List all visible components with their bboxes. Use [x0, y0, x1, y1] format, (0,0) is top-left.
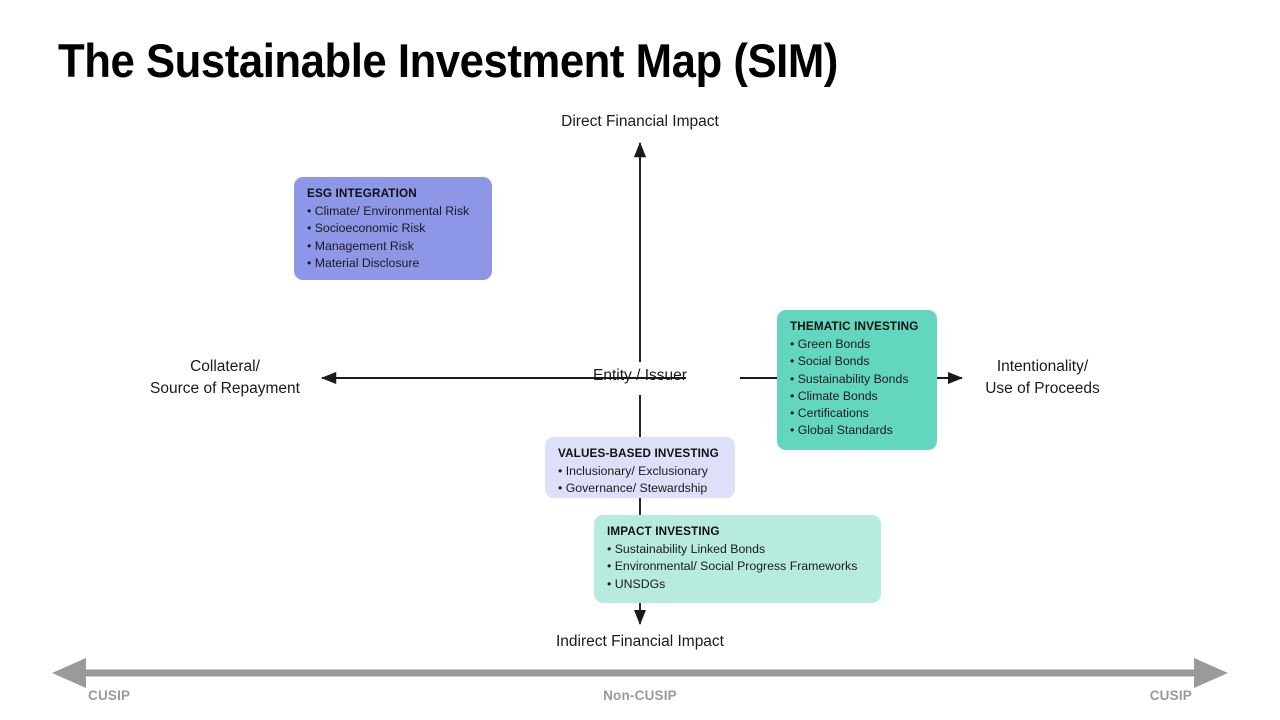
axis-label-collateral-source-of-repayment: Collateral/ Source of Repayment [110, 356, 340, 400]
box-values-based-investing[interactable]: VALUES-BASED INVESTING Inclusionary/ Exc… [545, 437, 735, 498]
list-item: Management Risk [307, 238, 480, 255]
box-thematic-investing-title: THEMATIC INVESTING [790, 320, 925, 333]
list-item: Certifications [790, 405, 925, 422]
box-values-based-investing-list: Inclusionary/ Exclusionary Governance/ S… [558, 463, 723, 498]
list-item: Socioeconomic Risk [307, 220, 480, 237]
cusip-label-middle: Non-CUSIP [540, 688, 740, 703]
axis-label-indirect-financial-impact: Indirect Financial Impact [490, 631, 790, 653]
axis-label-direct-financial-impact: Direct Financial Impact [490, 111, 790, 133]
list-item: Sustainability Linked Bonds [607, 541, 869, 558]
box-esg-integration-list: Climate/ Environmental Risk Socioeconomi… [307, 203, 480, 272]
list-item: Sustainability Bonds [790, 371, 925, 388]
box-thematic-investing-list: Green Bonds Social Bonds Sustainability … [790, 336, 925, 440]
center-node-entity-issuer: Entity / Issuer [560, 367, 720, 385]
cusip-label-right: CUSIP [1150, 688, 1192, 703]
list-item: Social Bonds [790, 353, 925, 370]
cusip-label-left: CUSIP [88, 688, 130, 703]
list-item: UNSDGs [607, 576, 869, 593]
box-thematic-investing[interactable]: THEMATIC INVESTING Green Bonds Social Bo… [777, 310, 937, 450]
box-values-based-investing-title: VALUES-BASED INVESTING [558, 447, 723, 460]
list-item: Global Standards [790, 422, 925, 439]
box-impact-investing[interactable]: IMPACT INVESTING Sustainability Linked B… [594, 515, 881, 603]
list-item: Governance/ Stewardship [558, 480, 723, 497]
list-item: Green Bonds [790, 336, 925, 353]
box-impact-investing-list: Sustainability Linked Bonds Environmenta… [607, 541, 869, 593]
list-item: Material Disclosure [307, 255, 480, 272]
box-impact-investing-title: IMPACT INVESTING [607, 525, 869, 538]
diagram-canvas: The Sustainable Investment Map (SIM) Dir… [0, 0, 1280, 720]
list-item: Inclusionary/ Exclusionary [558, 463, 723, 480]
list-item: Climate/ Environmental Risk [307, 203, 480, 220]
axis-label-intentionality-use-of-proceeds: Intentionality/ Use of Proceeds [935, 356, 1150, 400]
box-esg-integration[interactable]: ESG INTEGRATION Climate/ Environmental R… [294, 177, 492, 280]
page-title: The Sustainable Investment Map (SIM) [58, 33, 838, 88]
list-item: Environmental/ Social Progress Framework… [607, 558, 869, 575]
list-item: Climate Bonds [790, 388, 925, 405]
box-esg-integration-title: ESG INTEGRATION [307, 187, 480, 200]
cusip-spectrum: CUSIP Non-CUSIP CUSIP [0, 655, 1280, 720]
